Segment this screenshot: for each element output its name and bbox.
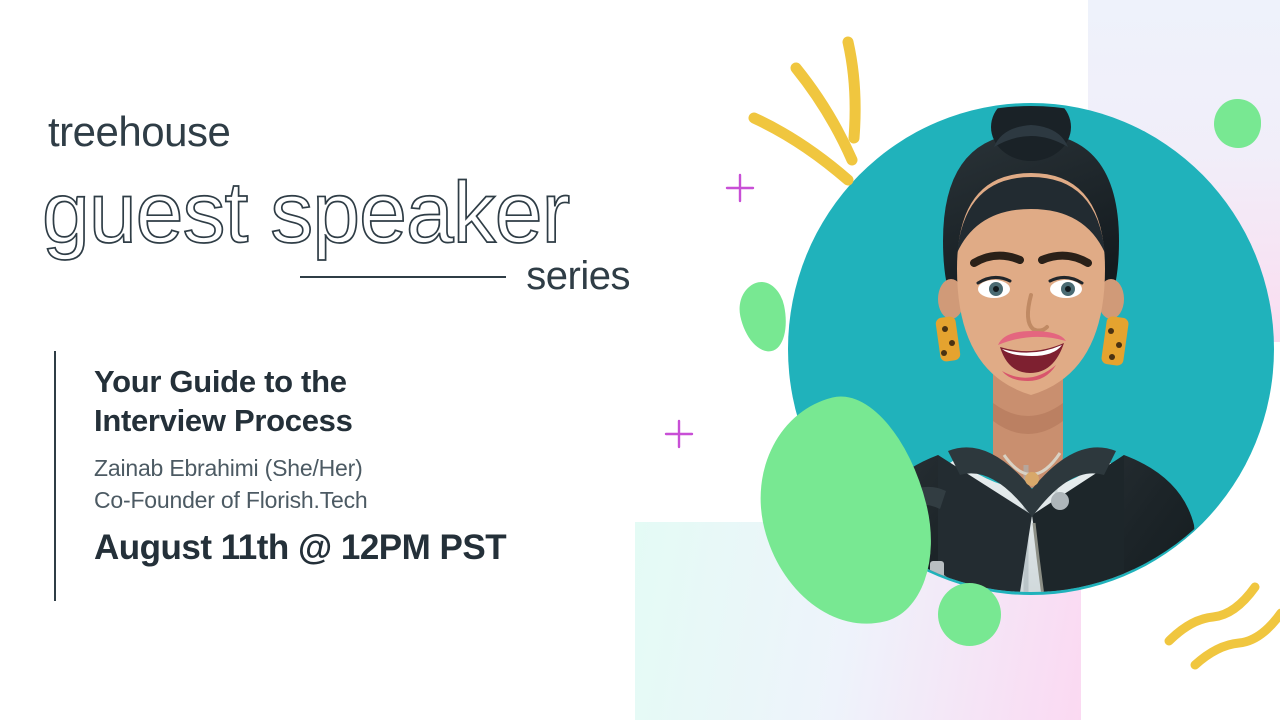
session-info-block: Your Guide to the Interview Process Zain…: [54, 351, 506, 601]
series-divider: [300, 276, 506, 278]
guest-speaker-promo-slide: treehouse guest speaker series Your Guid…: [0, 0, 1280, 720]
talk-title: Your Guide to the Interview Process: [94, 362, 434, 440]
talk-title-line-2: Interview Process: [94, 403, 353, 438]
svg-text:guest speaker: guest speaker: [42, 165, 570, 261]
series-label: series: [526, 254, 630, 299]
magenta-plus-icon-bottom: [663, 418, 695, 455]
green-blob-round: [938, 583, 1001, 646]
speaker-name: Zainab Ebrahimi (She/Her): [94, 452, 506, 484]
green-blob-top-right: [1214, 99, 1261, 148]
talk-title-line-1: Your Guide to the: [94, 364, 347, 399]
series-row: series: [300, 254, 630, 299]
magenta-plus-icon-top: [724, 172, 756, 209]
event-date-time: August 11th @ 12PM PST: [94, 526, 506, 570]
brand-wordmark: treehouse: [48, 108, 230, 156]
speaker-role: Co-Founder of Florish.Tech: [94, 484, 506, 516]
yellow-sparkle-icon: [740, 30, 900, 220]
green-blob-small: [734, 278, 793, 356]
yellow-squiggle-icon: [1155, 575, 1280, 690]
